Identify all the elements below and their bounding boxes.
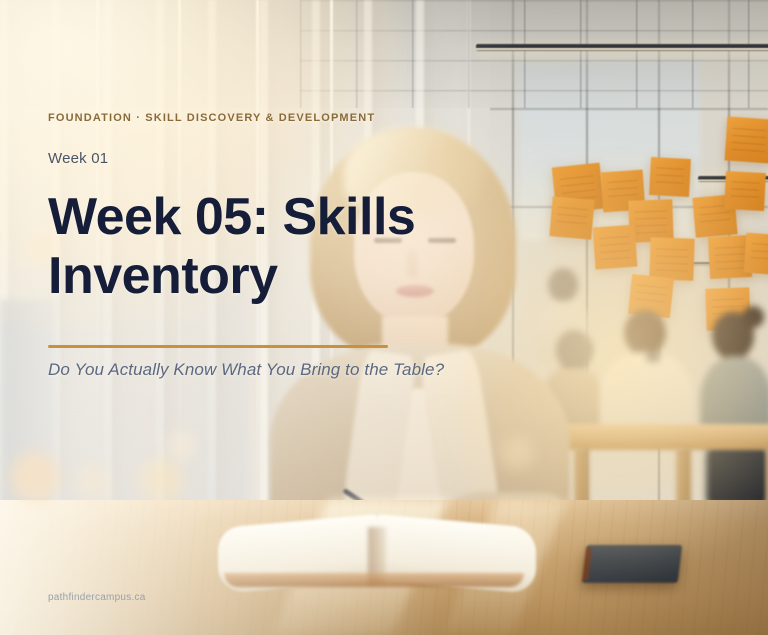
gold-divider-rule	[48, 345, 388, 348]
slide-subtitle: Do You Actually Know What You Bring to t…	[48, 360, 444, 380]
week-label: Week 01	[48, 150, 108, 167]
slide-content: FOUNDATION · SKILL DISCOVERY & DEVELOPME…	[0, 0, 768, 635]
slide-canvas: FOUNDATION · SKILL DISCOVERY & DEVELOPME…	[0, 0, 768, 635]
site-footer: pathfindercampus.ca	[48, 592, 146, 603]
course-eyebrow: FOUNDATION · SKILL DISCOVERY & DEVELOPME…	[48, 112, 375, 124]
page-title: Week 05: Skills Inventory	[48, 188, 478, 307]
